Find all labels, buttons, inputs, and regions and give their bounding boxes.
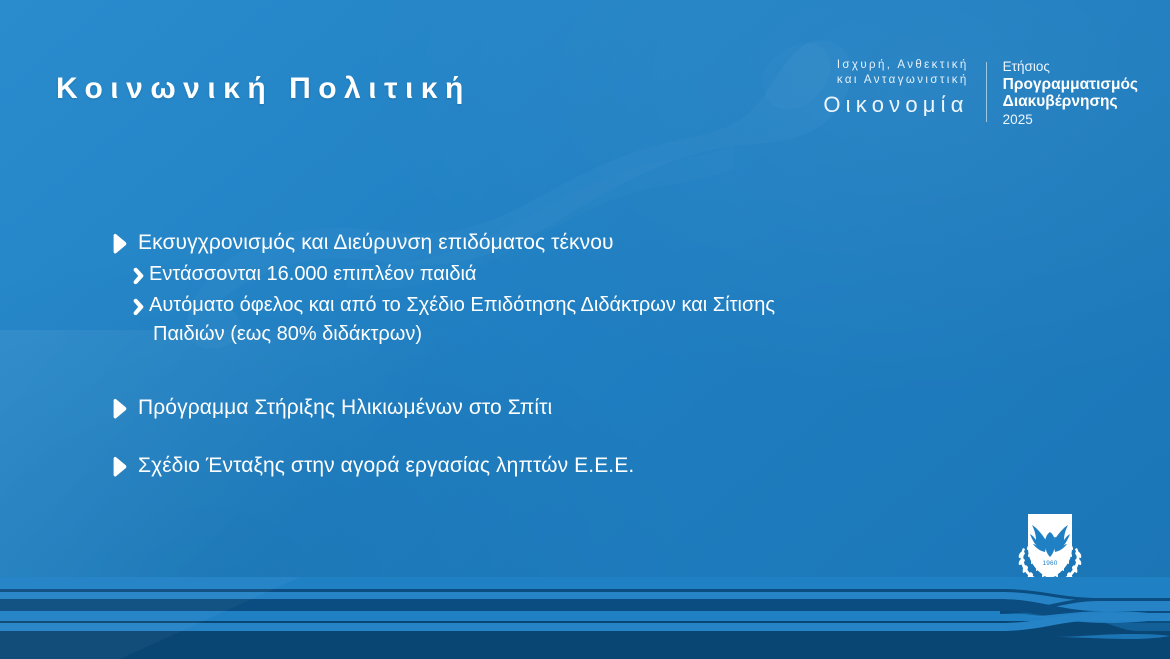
bullet-item: Σχέδιο Ένταξης στην αγορά εργασίας ληπτώ…	[110, 451, 1010, 481]
slide: Κοινωνική Πολιτική Ισχυρή, Ανθεκτική και…	[0, 0, 1170, 659]
page-title: Κοινωνική Πολιτική	[56, 72, 471, 106]
triangle-bullet-icon	[110, 456, 128, 478]
brand-lockup: Ισχυρή, Ανθεκτική και Ανταγωνιστική Οικο…	[823, 58, 1138, 128]
bullet-group: Σχέδιο Ένταξης στην αγορά εργασίας ληπτώ…	[110, 451, 1010, 481]
sub-bullet-item: Αυτόματο όφελος και από το Σχέδιο Επιδότ…	[132, 291, 1010, 349]
brand-programme-line-1: Ετήσιος	[1003, 58, 1138, 76]
chevron-right-icon	[132, 266, 146, 286]
brand-programme-line-2: Προγραμματισμός	[1003, 76, 1138, 94]
bullet-text: Πρόγραμμα Στήριξης Ηλικιωμένων στο Σπίτι	[138, 393, 552, 423]
brand-line-1: Ισχυρή, Ανθεκτική	[823, 58, 968, 73]
bullet-item: Εκσυγχρονισμός και Διεύρυνση επιδόματος …	[110, 228, 1010, 258]
svg-text:1960: 1960	[1042, 560, 1057, 567]
sub-bullet-item: Εντάσσονται 16.000 επιπλέον παιδιά	[132, 260, 1010, 289]
sub-bullet-text: Αυτόματο όφελος και από το Σχέδιο Επιδότ…	[153, 291, 813, 349]
bullet-group: Εκσυγχρονισμός και Διεύρυνση επιδόματος …	[110, 228, 1010, 349]
brand-programme-line-3: Διακυβέρνησης	[1003, 93, 1138, 111]
brand-line-2: και Ανταγωνιστική	[823, 73, 968, 88]
bottom-wave-decoration	[0, 577, 1170, 659]
brand-economy-block: Ισχυρή, Ανθεκτική και Ανταγωνιστική Οικο…	[823, 58, 985, 120]
bullet-text: Εκσυγχρονισμός και Διεύρυνση επιδόματος …	[138, 228, 614, 258]
brand-programme-block: Ετήσιος Προγραμματισμός Διακυβέρνησης 20…	[987, 58, 1138, 128]
chevron-right-icon	[132, 297, 146, 317]
triangle-bullet-icon	[110, 233, 128, 255]
sub-bullet-text: Εντάσσονται 16.000 επιπλέον παιδιά	[153, 260, 476, 289]
bullet-text: Σχέδιο Ένταξης στην αγορά εργασίας ληπτώ…	[138, 451, 634, 481]
bullet-group: Πρόγραμμα Στήριξης Ηλικιωμένων στο Σπίτι	[110, 393, 1010, 423]
bullet-list: Εκσυγχρονισμός και Διεύρυνση επιδόματος …	[110, 228, 1010, 483]
bullet-item: Πρόγραμμα Στήριξης Ηλικιωμένων στο Σπίτι	[110, 393, 1010, 423]
brand-economy-word: Οικονομία	[823, 90, 968, 120]
brand-programme-year: 2025	[1003, 111, 1138, 129]
triangle-bullet-icon	[110, 398, 128, 420]
